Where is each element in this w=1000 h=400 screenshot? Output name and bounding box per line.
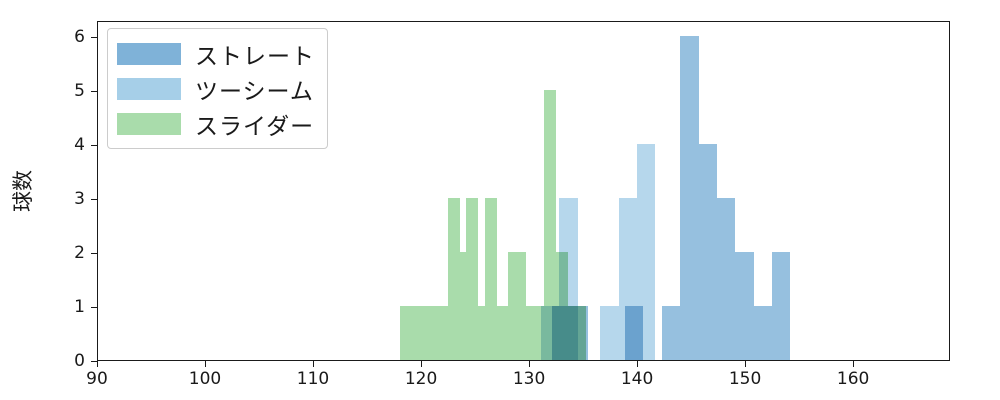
histogram-bar <box>556 252 568 360</box>
histogram-bar <box>637 144 655 360</box>
histogram-bar <box>772 252 790 360</box>
x-axis-tick <box>853 361 854 367</box>
histogram-bar <box>526 306 544 360</box>
y-axis-tick <box>91 199 97 200</box>
histogram-bar <box>544 90 556 360</box>
histogram-bar <box>466 198 478 360</box>
histogram-bar <box>568 306 586 360</box>
histogram-bar <box>448 198 460 360</box>
histogram-bar <box>662 306 680 360</box>
histogram-bar <box>754 306 772 360</box>
x-axis-tick <box>97 361 98 367</box>
y-axis-tick-label: 0 <box>74 351 85 371</box>
legend-color-swatch <box>117 113 181 135</box>
x-axis-tick <box>745 361 746 367</box>
histogram-figure: 球数 ストレートツーシームスライダー 901001101201301401501… <box>0 0 1000 400</box>
x-axis-tick-label: 90 <box>86 369 108 389</box>
y-axis-tick <box>91 307 97 308</box>
y-axis-tick <box>91 361 97 362</box>
histogram-bar <box>717 198 735 360</box>
y-axis-tick <box>91 253 97 254</box>
x-axis-tick-label: 140 <box>621 369 653 389</box>
y-axis-tick <box>91 145 97 146</box>
x-axis-tick <box>313 361 314 367</box>
y-axis-tick-label: 5 <box>74 81 85 101</box>
y-axis-tick-label: 4 <box>74 135 85 155</box>
x-axis-tick-label: 160 <box>837 369 869 389</box>
legend-item: ストレート <box>117 36 315 71</box>
histogram-bar <box>460 252 466 360</box>
y-axis-tick-label: 3 <box>74 189 85 209</box>
histogram-bar <box>699 144 717 360</box>
legend-label: ツーシーム <box>195 72 314 106</box>
histogram-bar <box>497 306 509 360</box>
legend-color-swatch <box>117 78 181 100</box>
legend-label: ストレート <box>195 37 315 71</box>
histogram-bar <box>412 306 424 360</box>
x-axis-tick <box>421 361 422 367</box>
x-axis-tick <box>205 361 206 367</box>
histogram-bar <box>485 198 497 360</box>
histogram-bar <box>436 306 448 360</box>
x-axis-tick-label: 120 <box>405 369 437 389</box>
y-axis-tick-label: 2 <box>74 243 85 263</box>
legend: ストレートツーシームスライダー <box>107 28 328 149</box>
y-axis-tick-label: 6 <box>74 27 85 47</box>
histogram-bar <box>680 36 698 360</box>
y-axis-title: 球数 <box>7 170 37 212</box>
histogram-bar <box>508 252 525 360</box>
histogram-bar <box>735 252 753 360</box>
x-axis-tick-label: 110 <box>297 369 329 389</box>
histogram-bar <box>619 198 637 360</box>
x-axis-tick <box>529 361 530 367</box>
y-axis-tick <box>91 91 97 92</box>
legend-color-swatch <box>117 43 181 65</box>
histogram-bar <box>478 306 484 360</box>
histogram-bar <box>424 306 436 360</box>
y-axis-tick-label: 1 <box>74 297 85 317</box>
y-axis-tick <box>91 37 97 38</box>
x-axis-tick-label: 150 <box>729 369 761 389</box>
x-axis-tick-label: 100 <box>189 369 221 389</box>
legend-item: スライダー <box>117 106 315 141</box>
histogram-bar <box>600 306 618 360</box>
legend-item: ツーシーム <box>117 71 315 106</box>
x-axis-tick <box>637 361 638 367</box>
x-axis-tick-label: 130 <box>513 369 545 389</box>
histogram-bar <box>400 306 412 360</box>
legend-label: スライダー <box>195 107 314 141</box>
